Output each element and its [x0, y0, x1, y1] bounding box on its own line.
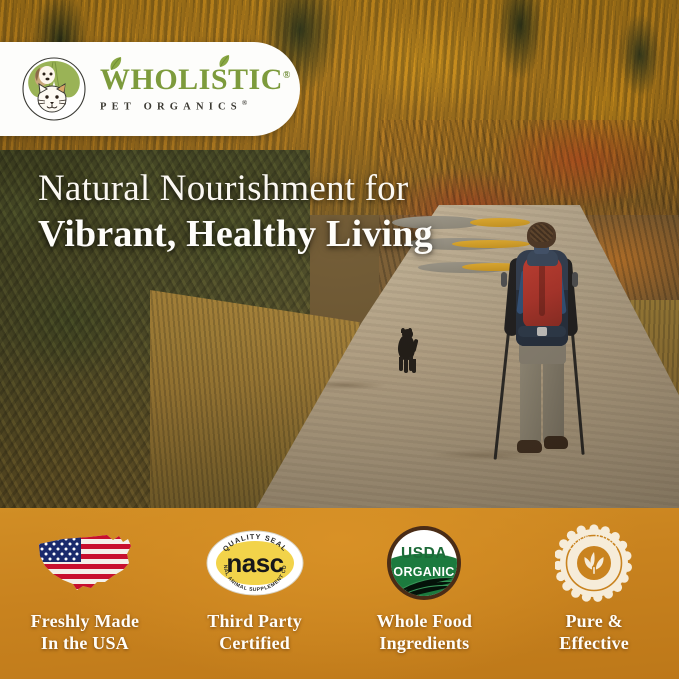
hero-headline: Natural Nourishment for Vibrant, Healthy… — [38, 168, 558, 256]
badge-whole-food-ingredients: USDA ORGANIC Whole Food Ingredients — [340, 508, 510, 679]
headline-line-2: Vibrant, Healthy Living — [38, 212, 558, 256]
svg-text:USDA: USDA — [401, 545, 447, 562]
badge-third-party-certified: QUALITY SEAL nasc NATIONAL ANIMAL SUPPLE… — [170, 508, 340, 679]
wordmark-secondary-text: PET ORGANICS — [100, 102, 242, 113]
wordmark-secondary: PET ORGANICS® — [100, 100, 291, 113]
usa-flag-map-icon — [33, 524, 137, 602]
usda-organic-seal-icon: USDA ORGANIC — [385, 524, 463, 602]
hiker-figure — [494, 222, 586, 462]
marketing-banner: WHOLISTIC® PET ORGANICS® Natural Nourish… — [0, 0, 679, 679]
svg-text:nasc: nasc — [226, 548, 283, 578]
leaf-accent-icon — [218, 54, 230, 68]
badge-label: Pure & Effective — [559, 611, 629, 654]
wordmark-primary-text: WHOLISTIC — [100, 63, 283, 96]
hundred-percent-pure-seal-icon: 100% PURE 100% PURE ★ ★ — [555, 524, 633, 602]
black-dog-figure — [396, 329, 418, 373]
wordmark-secondary-registered-mark: ® — [242, 99, 247, 107]
badge-label: Third Party Certified — [207, 611, 302, 654]
brand-wordmark: WHOLISTIC® PET ORGANICS® — [100, 65, 291, 113]
badge-pure-effective: 100% PURE 100% PURE ★ ★ Pure & Effective — [509, 508, 679, 679]
badge-freshly-made-usa: Freshly Made In the USA — [0, 508, 170, 679]
brand-logo-card[interactable]: WHOLISTIC® PET ORGANICS® — [0, 42, 300, 136]
leaf-accent-icon — [109, 56, 122, 71]
svg-text:★: ★ — [610, 560, 616, 568]
wordmark-registered-mark: ® — [283, 70, 291, 81]
headline-line-1: Natural Nourishment for — [38, 168, 558, 210]
svg-text:★: ★ — [571, 560, 577, 568]
red-backpack — [523, 256, 562, 328]
dog-and-cat-circle-leaves-logo — [20, 55, 88, 123]
badge-label: Freshly Made In the USA — [31, 611, 140, 654]
wordmark-primary: WHOLISTIC® — [100, 65, 291, 95]
svg-text:ORGANIC: ORGANIC — [394, 565, 455, 579]
badge-label: Whole Food Ingredients — [377, 611, 473, 654]
trust-badge-bar: Freshly Made In the USA QUALITY SEAL — [0, 508, 679, 679]
nasc-quality-seal-icon: QUALITY SEAL nasc NATIONAL ANIMAL SUPPLE… — [203, 524, 307, 602]
